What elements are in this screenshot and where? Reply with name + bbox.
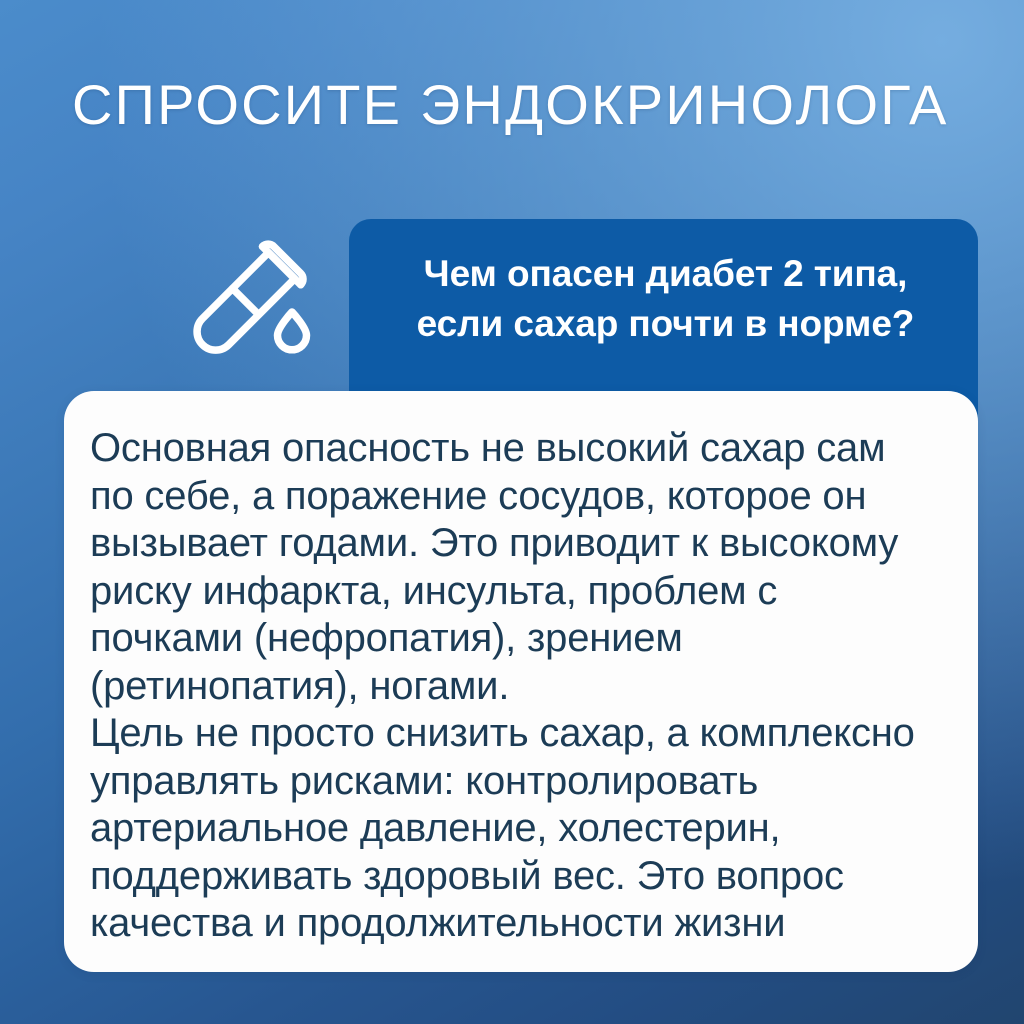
poster-canvas: СПРОСИТЕ ЭНДОКРИНОЛОГА Чем опасен диабет… xyxy=(0,0,1024,1024)
answer-card: Основная опасность не высокий сахар сам … xyxy=(64,391,978,972)
answer-text: Основная опасность не высокий сахар сам … xyxy=(90,425,952,948)
test-tube-icon xyxy=(186,240,312,366)
question-text: Чем опасен диабет 2 типа, если сахар поч… xyxy=(381,249,950,349)
page-title: СПРОСИТЕ ЭНДОКРИНОЛОГА xyxy=(72,74,972,136)
